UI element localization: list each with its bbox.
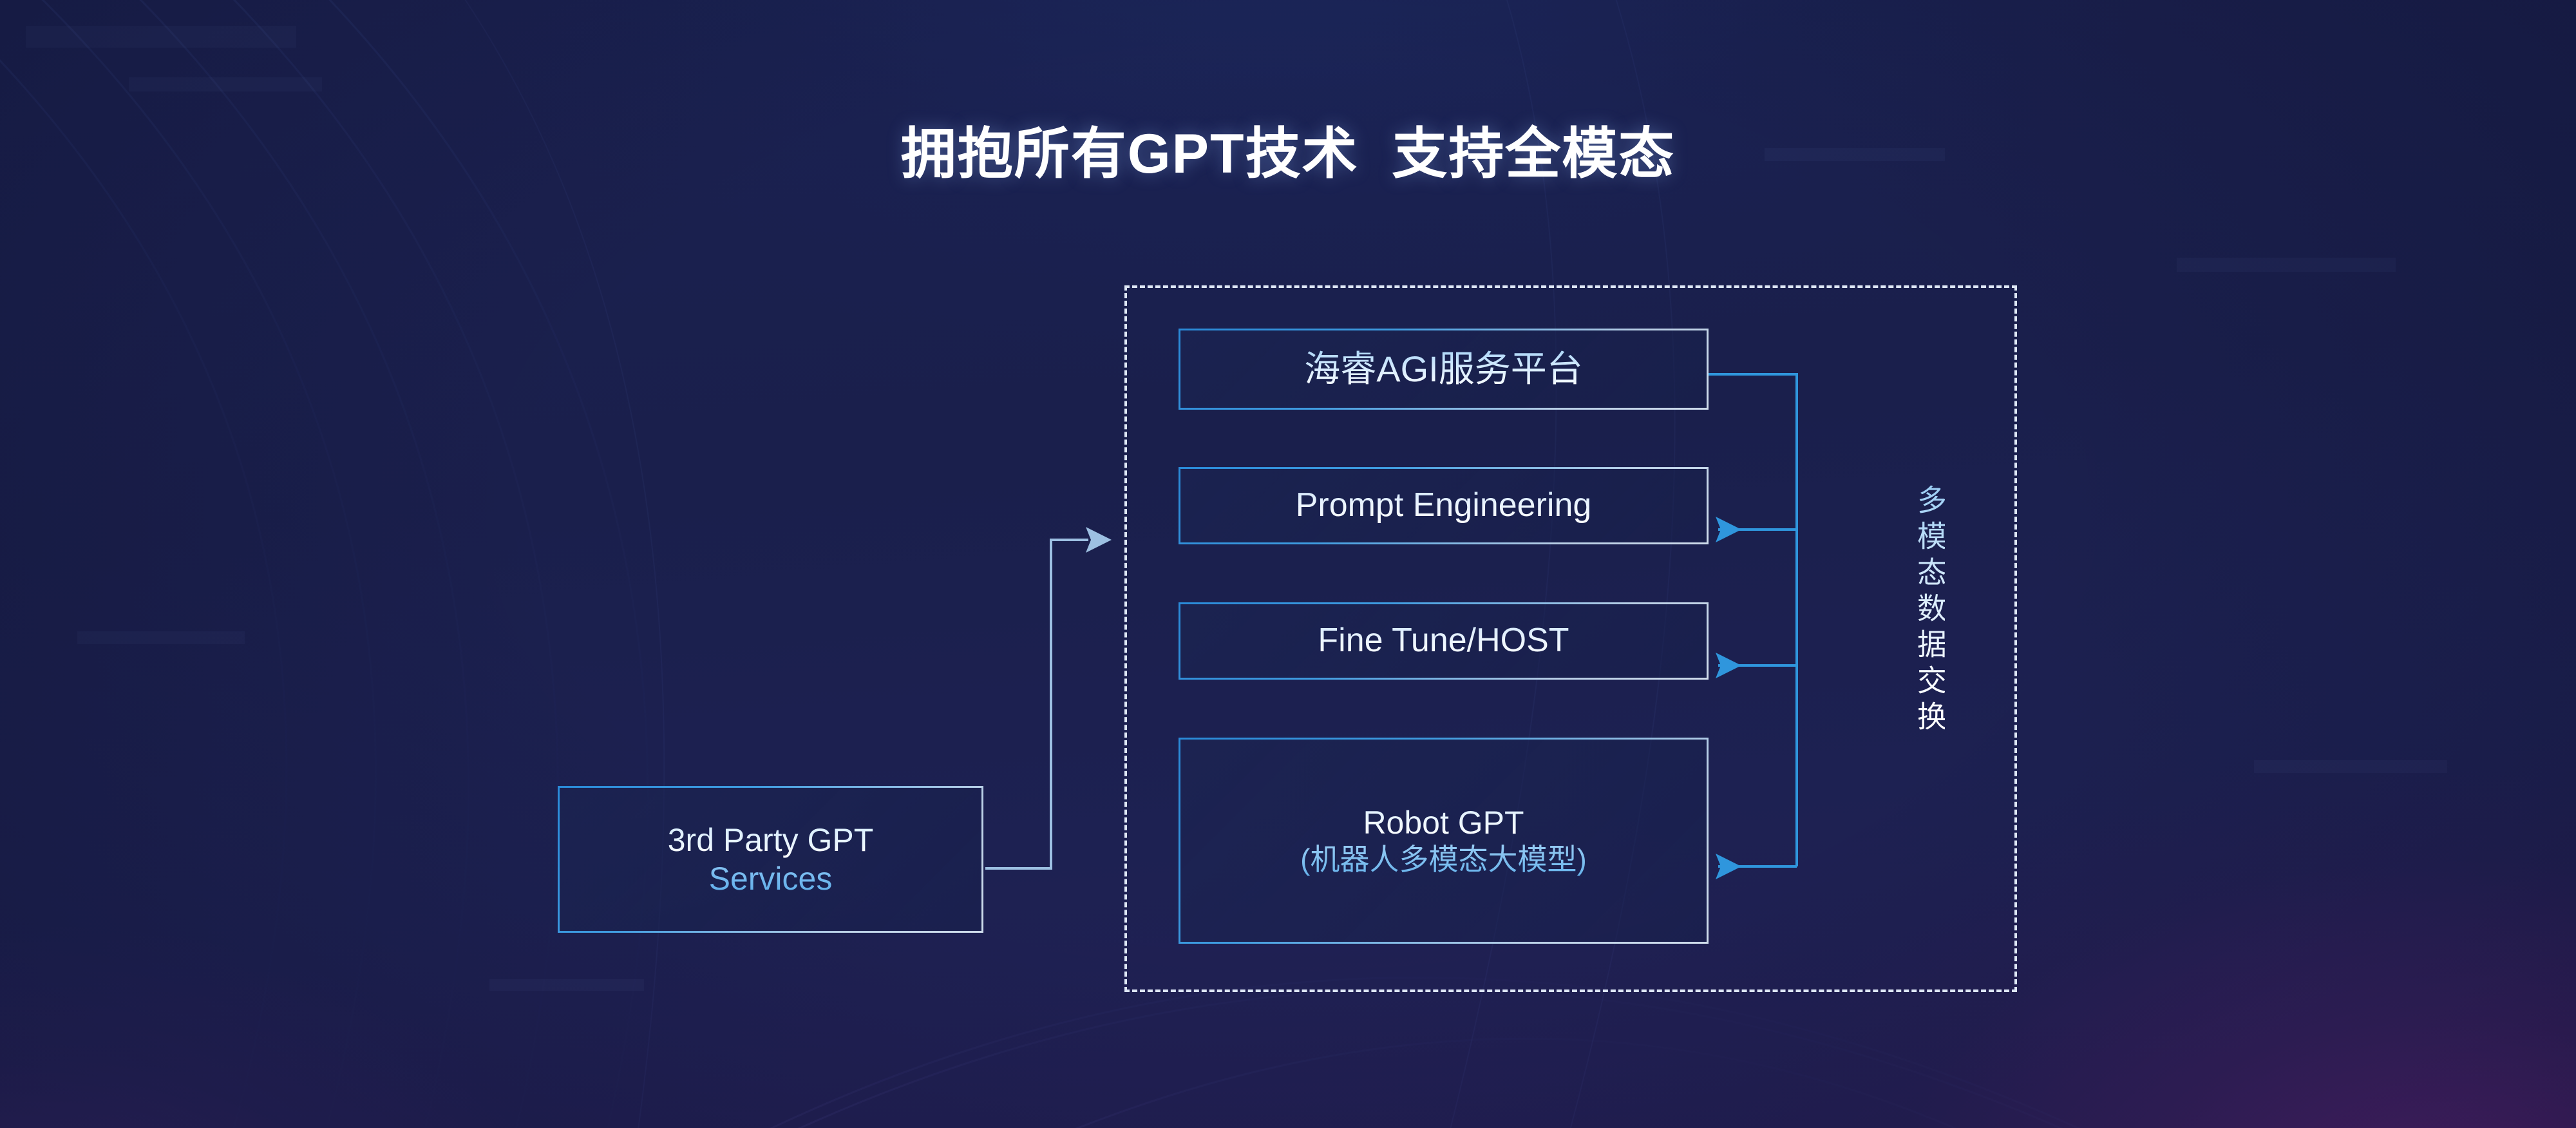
node-agi-platform-label: 海睿AGI服务平台 <box>1304 348 1582 390</box>
slide-canvas: 拥抱所有GPT技术 支持全模态 <box>0 0 2576 1128</box>
node-third-party-gpt[interactable]: 3rd Party GPT Services <box>558 786 983 933</box>
node-third-party-gpt-sublabel: Services <box>709 859 833 898</box>
node-robot-gpt[interactable]: Robot GPT (机器人多模态大模型) <box>1179 738 1709 944</box>
multimodal-data-exchange-label: 多模态数据交换 <box>1902 484 1945 737</box>
node-robot-gpt-sublabel: (机器人多模态大模型) <box>1300 842 1587 877</box>
node-prompt-engineering-label: Prompt Engineering <box>1296 486 1592 525</box>
node-agi-platform[interactable]: 海睿AGI服务平台 <box>1179 329 1709 410</box>
node-prompt-engineering[interactable]: Prompt Engineering <box>1179 467 1709 544</box>
node-fine-tune-host[interactable]: Fine Tune/HOST <box>1179 602 1709 680</box>
node-third-party-gpt-label: 3rd Party GPT <box>668 821 874 859</box>
node-robot-gpt-label: Robot GPT <box>1363 804 1524 842</box>
node-fine-tune-host-label: Fine Tune/HOST <box>1318 621 1569 660</box>
page-title: 拥抱所有GPT技术 支持全模态 <box>0 124 2576 185</box>
